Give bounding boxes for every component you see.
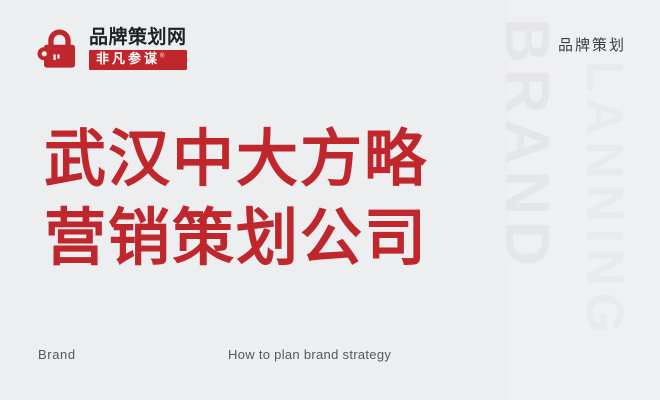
logo-badge-text: 非凡参谋 <box>96 51 160 66</box>
watermark-brand: BRAND <box>491 18 562 272</box>
watermark-planning: LANNING <box>574 60 634 339</box>
footer-left-label: Brand <box>38 347 76 362</box>
top-right-label: 品牌策划 <box>558 34 626 55</box>
headline-line-2: 营销策划公司 <box>44 199 428 278</box>
logo-title: 品牌策划网 <box>89 28 187 47</box>
logo-badge-mark: ® <box>160 54 164 60</box>
brand-banner: BRAND LANNING 品牌策划网 非凡参谋® 品牌策划 武汉中大方略 营销… <box>0 0 660 400</box>
footer-center-label: How to plan brand strategy <box>228 347 391 362</box>
logo-text-block: 品牌策划网 非凡参谋® <box>89 28 187 70</box>
logo-badge: 非凡参谋® <box>89 50 187 70</box>
headline-line-1: 武汉中大方略 <box>44 120 428 199</box>
site-logo[interactable]: 品牌策划网 非凡参谋® <box>36 26 187 72</box>
key-lock-icon <box>36 26 82 72</box>
page-title: 武汉中大方略 营销策划公司 <box>44 120 428 279</box>
